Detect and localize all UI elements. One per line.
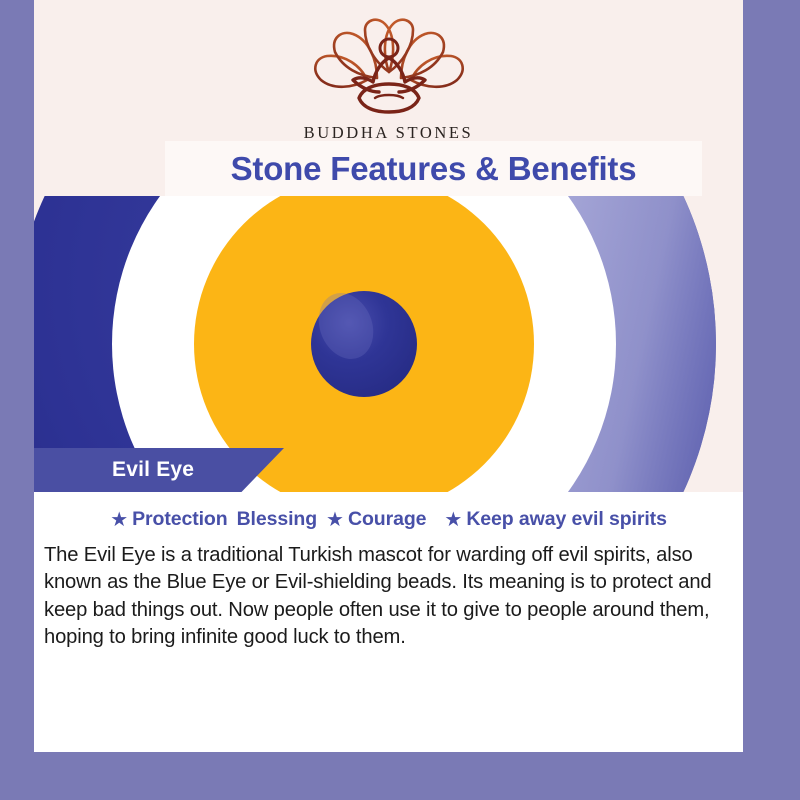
page-title-plate: Stone Features & Benefits <box>165 141 702 196</box>
feature-label: Protection <box>132 508 227 531</box>
feature-label: Blessing <box>237 508 317 531</box>
feature-item-courage: ★ Courage <box>326 508 426 531</box>
lotus-meditation-icon <box>305 18 473 119</box>
brand-name: BUDDHA STONES <box>304 123 474 143</box>
feature-item-blessing: Blessing <box>237 508 317 531</box>
feature-item-keep-away-evil-spirits: ★ Keep away evil spirits <box>444 508 666 531</box>
description-panel: ★ Protection Blessing ★ Courage ★ Keep a… <box>34 492 743 752</box>
evil-eye-graphic <box>34 196 743 492</box>
stone-name-label: Evil Eye <box>112 458 194 482</box>
page-title: Stone Features & Benefits <box>231 150 637 188</box>
feature-list: ★ Protection Blessing ★ Courage ★ Keep a… <box>34 508 743 531</box>
stone-name-banner: Evil Eye <box>34 448 284 492</box>
star-icon: ★ <box>444 510 462 530</box>
brand-logo: BUDDHA STONES <box>34 18 743 143</box>
description-text: The Evil Eye is a traditional Turkish ma… <box>34 542 743 652</box>
star-icon: ★ <box>326 510 344 530</box>
star-icon: ★ <box>110 510 128 530</box>
feature-item-protection: ★ Protection <box>110 508 227 531</box>
feature-label: Courage <box>348 508 426 531</box>
feature-label: Keep away evil spirits <box>466 508 666 531</box>
info-card: BUDDHA STONES Stone Features & Benefits … <box>34 0 743 752</box>
